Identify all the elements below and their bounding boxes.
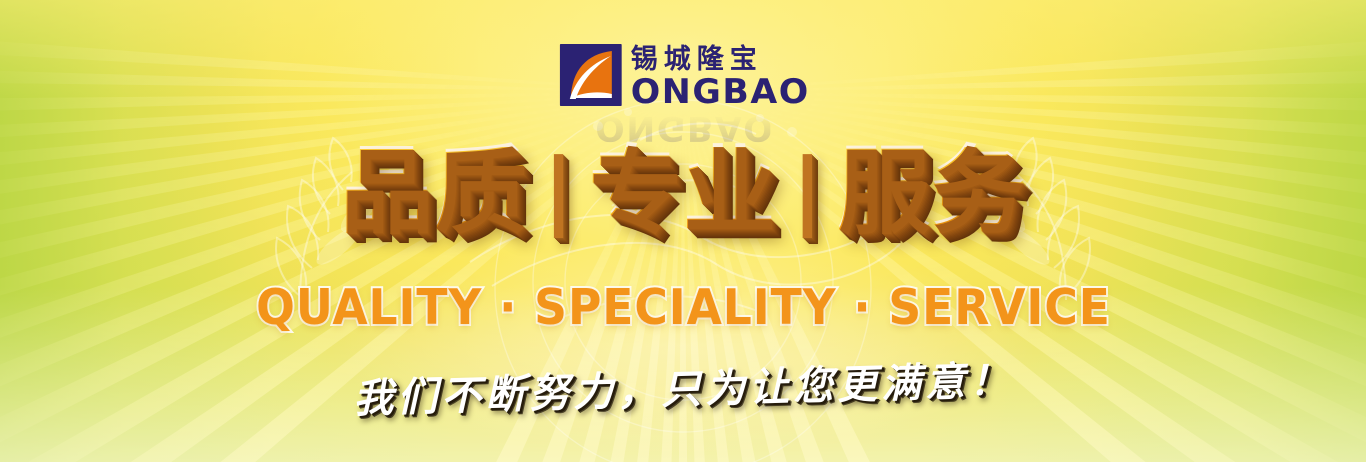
english-subline-text: QUALITY · SPECIALITY · SERVICE: [256, 279, 1111, 336]
english-subline: QUALITY · SPECIALITY · SERVICE: [0, 279, 1366, 336]
logo-wordmark: 锡城隆宝 ONGBAO: [631, 44, 806, 108]
company-logo[interactable]: 锡城隆宝 ONGBAO: [560, 44, 806, 108]
headline-word-quality: 品质: [334, 147, 534, 239]
headline-slogan: 品质 | 专业 | 服务: [0, 128, 1366, 258]
sail-wave-logo-icon: [560, 44, 622, 106]
headline-separator-1: |: [534, 147, 583, 231]
logo-english-name: ONGBAO: [631, 76, 810, 108]
chinese-tagline: 我们不断努力，只为让您更满意！: [0, 357, 1366, 415]
headline-word-speciality: 专业: [583, 147, 783, 239]
headline-separator-2: |: [783, 147, 832, 231]
logo-chinese-name: 锡城隆宝: [631, 45, 806, 74]
chinese-tagline-text: 我们不断努力，只为让您更满意！: [352, 348, 1013, 424]
headline-word-service: 服务: [832, 147, 1032, 239]
promotional-banner: ONGBAO 锡城隆宝 ONGBAO 品质 | 专业 | 服务 QUALITY …: [0, 0, 1366, 462]
